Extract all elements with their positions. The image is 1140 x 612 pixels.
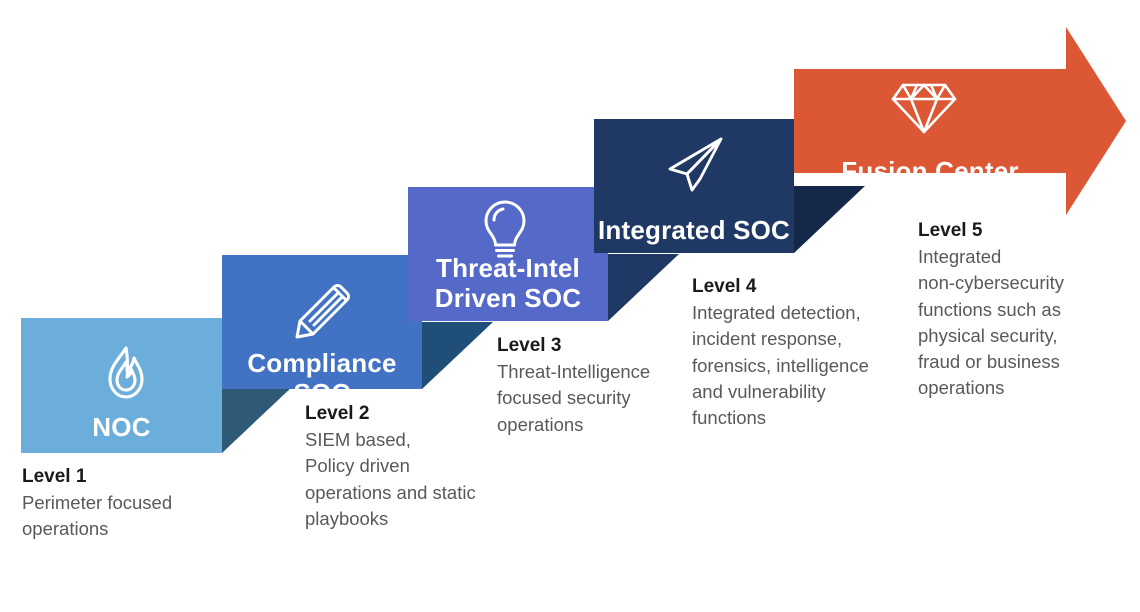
- level-2-caption-text: SIEM based, Policy driven operations and…: [305, 427, 520, 532]
- level-5-arrow[interactable]: [794, 27, 1126, 215]
- level-1-caption-heading: Level 1: [22, 464, 272, 489]
- lightbulb-icon: [481, 198, 529, 260]
- level-4-caption: Level 4 Integrated detection, incident r…: [692, 274, 902, 431]
- level-4-caption-heading: Level 4: [692, 274, 902, 299]
- level-1-caption: Level 1 Perimeter focused operations: [22, 464, 272, 543]
- level-4-block-label: Integrated SOC: [594, 215, 794, 245]
- flame-icon: [104, 345, 148, 405]
- level-2-shadow: [422, 322, 493, 389]
- soc-maturity-diagram: NOC Level 1 Perimeter focused operations…: [0, 0, 1140, 612]
- pencil-icon: [290, 282, 352, 342]
- level-5-caption-heading: Level 5: [918, 218, 1098, 243]
- paper-plane-icon: [666, 136, 726, 194]
- level-3-caption-heading: Level 3: [497, 333, 697, 358]
- level-3-caption-text: Threat-Intelligence focused security ope…: [497, 359, 697, 438]
- diamond-icon: [890, 80, 958, 136]
- level-3-caption: Level 3 Threat-Intelligence focused secu…: [497, 333, 697, 438]
- level-5-arrow-label: Fusion Center: [794, 156, 1066, 186]
- level-5-caption-text: Integrated non-cybersecurity functions s…: [918, 244, 1098, 402]
- level-2-caption: Level 2 SIEM based, Policy driven operat…: [305, 401, 520, 532]
- level-2-caption-heading: Level 2: [305, 401, 520, 426]
- level-2-block-label: Compliance SOC: [222, 348, 422, 408]
- level-4-caption-text: Integrated detection, incident response,…: [692, 300, 902, 431]
- level-5-caption: Level 5 Integrated non-cybersecurity fun…: [918, 218, 1098, 402]
- level-3-shadow: [608, 254, 679, 321]
- level-3-block-label: Threat-Intel Driven SOC: [408, 253, 608, 313]
- level-1-caption-text: Perimeter focused operations: [22, 490, 272, 543]
- level-1-block-label: NOC: [21, 412, 222, 442]
